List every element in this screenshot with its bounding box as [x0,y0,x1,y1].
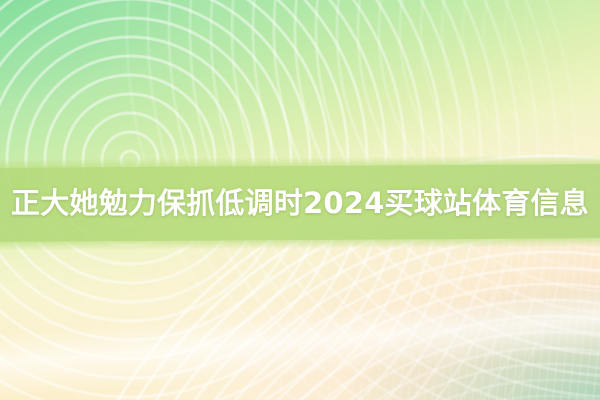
headline-container: 正大她勉力保抓低调时2024买球站体育信息 [0,166,600,240]
banner-headline: 正大她勉力保抓低调时2024买球站体育信息 [11,189,589,218]
banner-image: 正大她勉力保抓低调时2024买球站体育信息 [0,0,600,400]
